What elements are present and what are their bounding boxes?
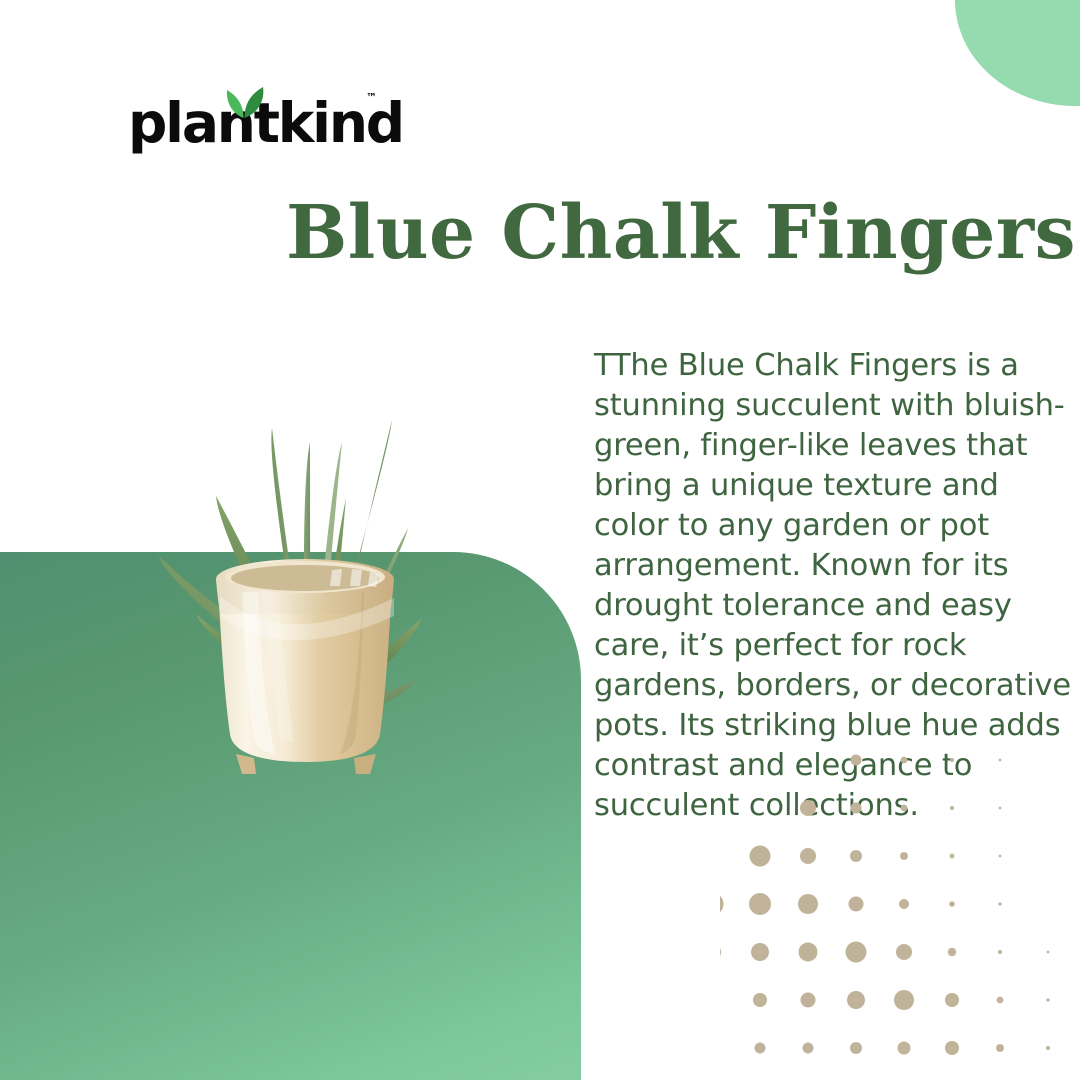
poster-canvas: plantkind ™ Blue Chalk Fingers TThe Blue… [0,0,1080,1080]
plant-description: TThe Blue Chalk Fingers is a stunning su… [594,346,1080,826]
trademark-icon: ™ [366,91,377,104]
plant-photo [150,330,460,790]
brand-logo[interactable]: plantkind ™ [128,93,380,153]
page-title: Blue Chalk Fingers [286,189,1011,277]
leaf-sprout-icon [223,85,267,119]
mint-corner-blob [955,0,1080,106]
plant-pot [212,559,398,774]
